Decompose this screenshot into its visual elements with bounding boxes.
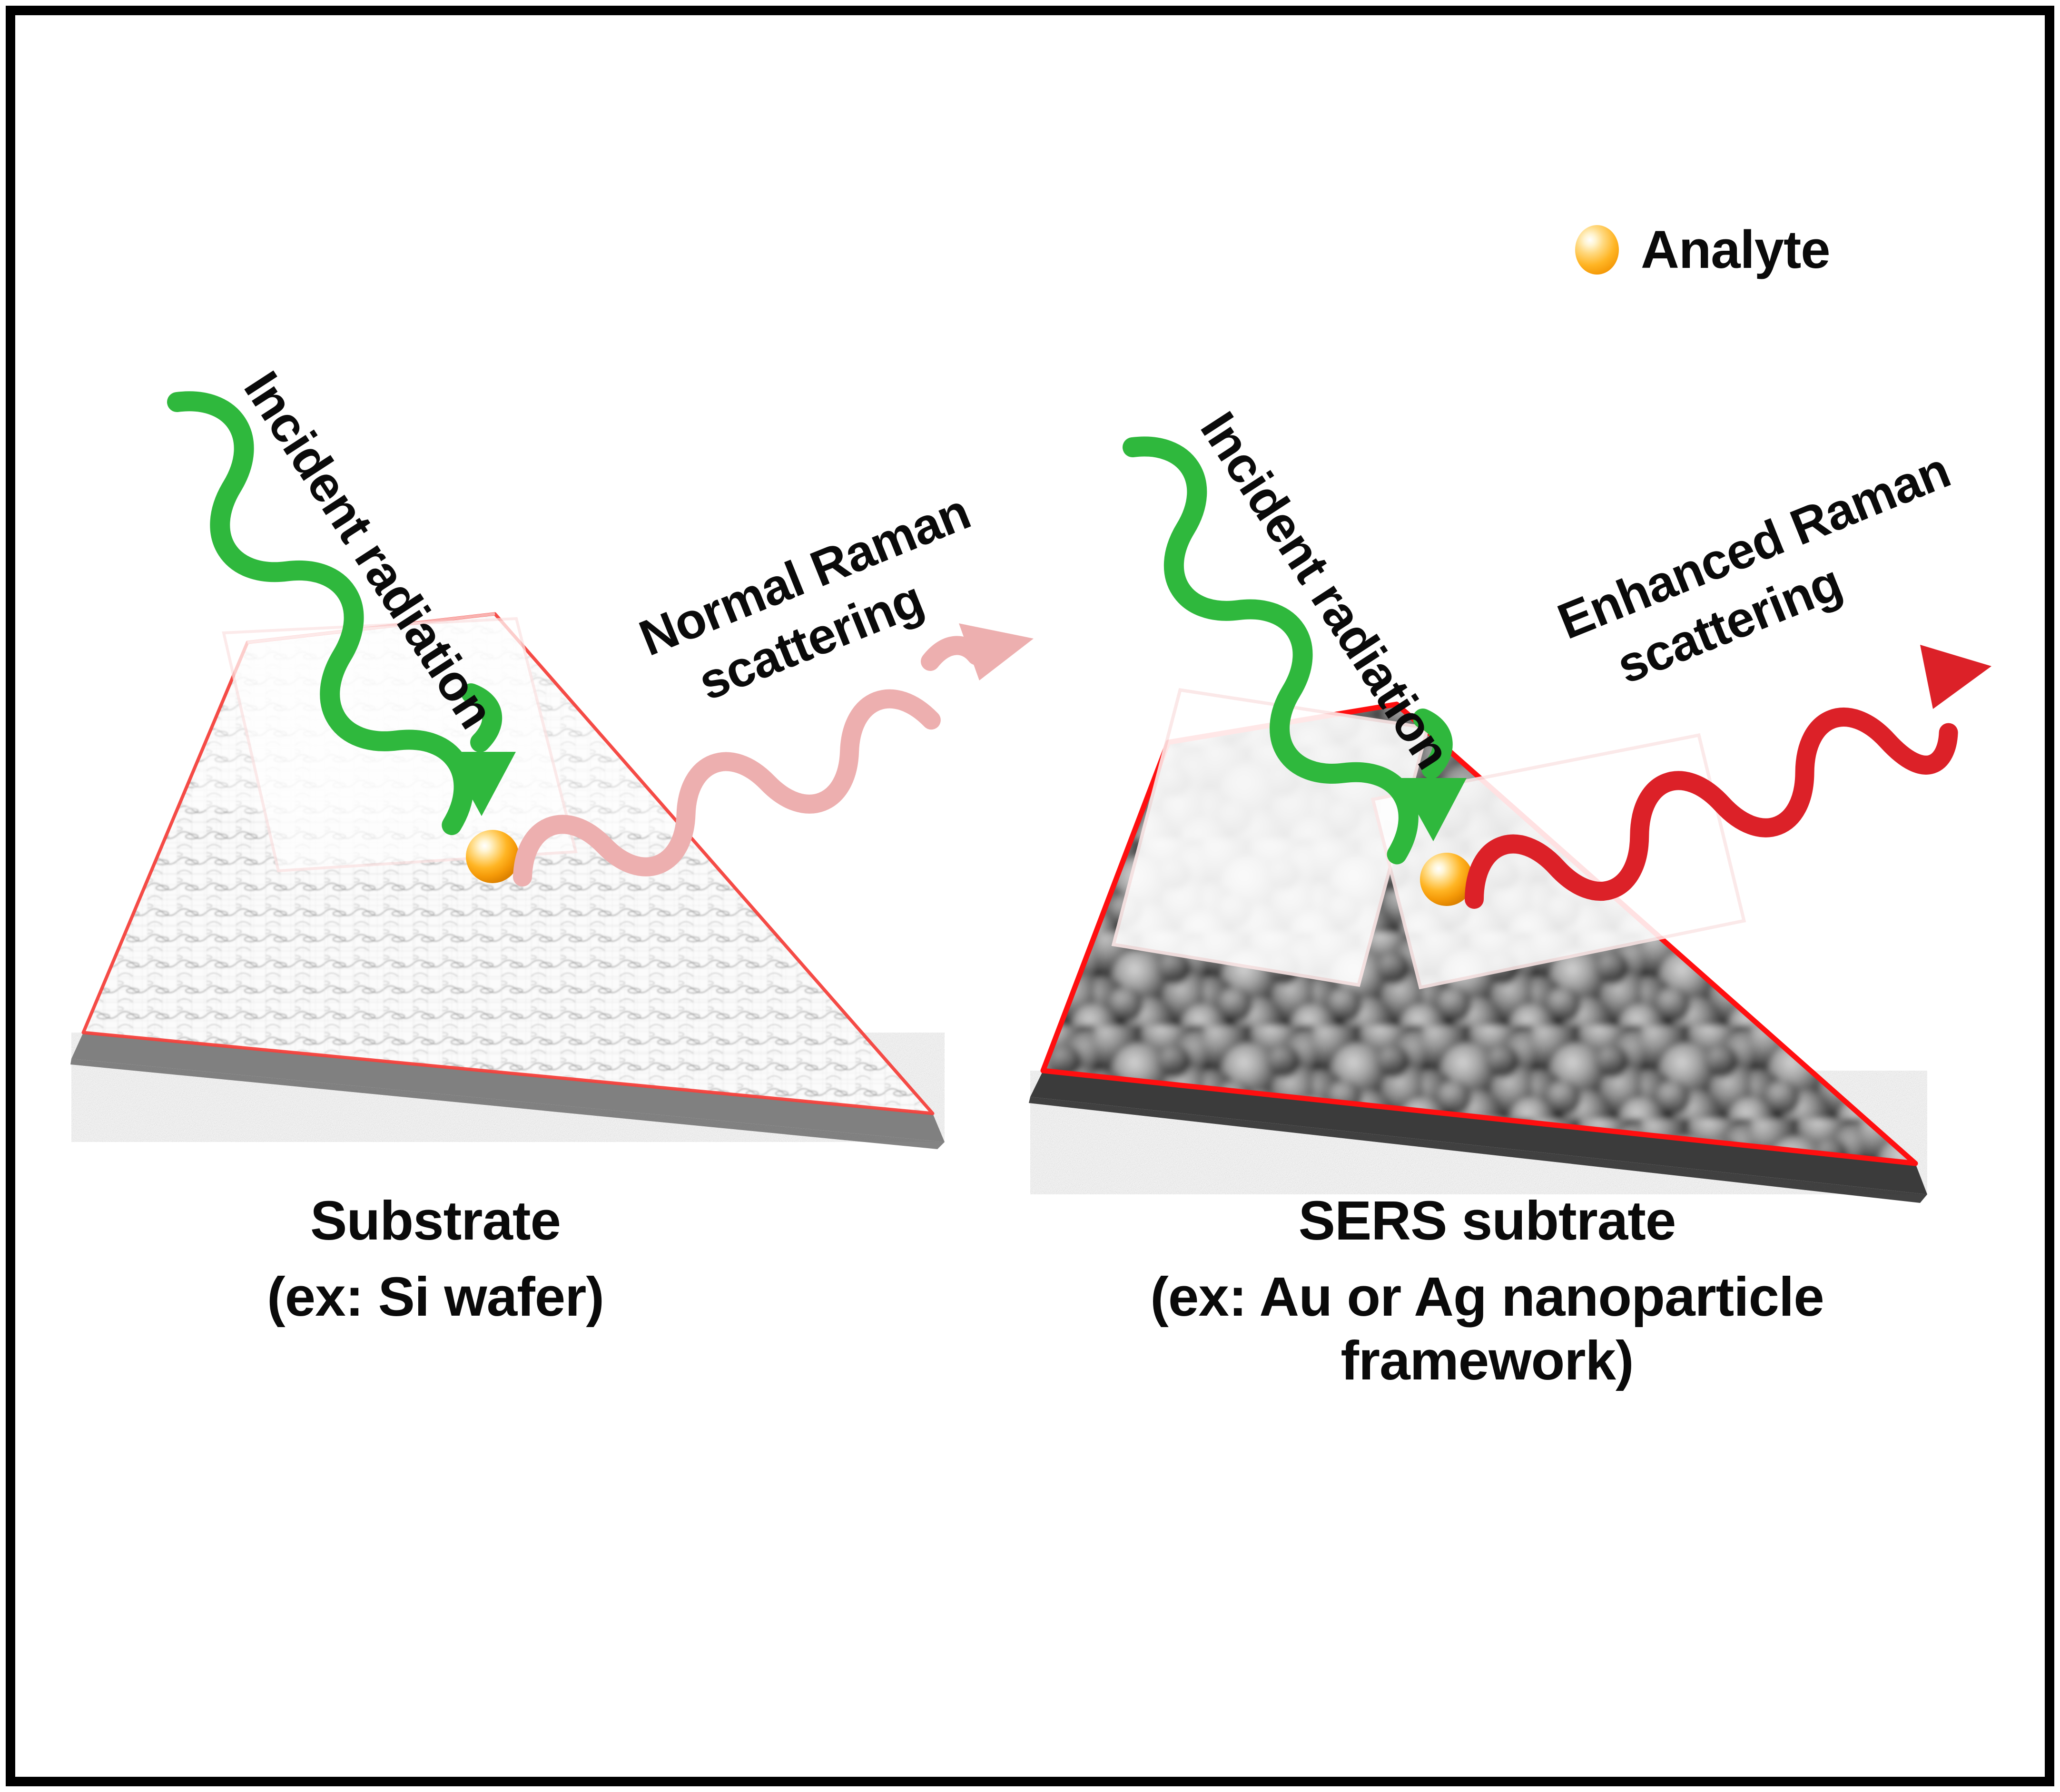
analyte-legend-label: Analyte (1641, 219, 1830, 280)
analyte-sphere-left (466, 830, 519, 883)
caption-sers-line2: (ex: Au or Ag nanoparticle framework) (1014, 1265, 1961, 1392)
caption-substrate-line1: Substrate (310, 1190, 561, 1251)
panel-normal-raman (48, 381, 1034, 1166)
legend-analyte: Analyte (1575, 219, 1830, 280)
figure-root: Analyte Incident radiation Normal Raman … (0, 0, 2060, 1792)
caption-substrate-line2: (ex: Si wafer) (0, 1265, 871, 1329)
analyte-legend-icon (1575, 225, 1619, 275)
caption-sers-line1: SERS subtrate (1299, 1190, 1676, 1251)
caption-substrate: Substrate (ex: Si wafer) (0, 1189, 871, 1329)
caption-sers-substrate: SERS subtrate (ex: Au or Ag nanoparticle… (1014, 1189, 1961, 1392)
